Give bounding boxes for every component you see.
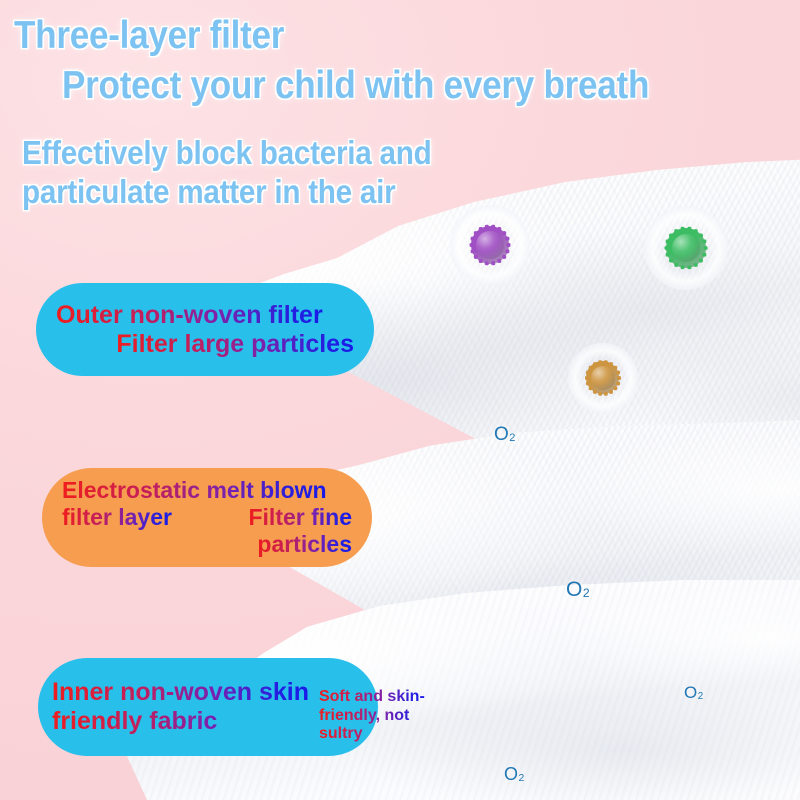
oxygen-marker-subscript: 2 xyxy=(519,773,525,784)
subheadline-line-2: particulate matter in the air xyxy=(22,174,722,211)
oxygen-marker-3: O2 xyxy=(684,683,703,703)
virus-spikes xyxy=(586,361,619,394)
callout-inner-title: Inner non-woven skin xyxy=(52,678,309,707)
oxygen-marker-label: O xyxy=(684,683,697,703)
oxygen-marker-4: O2 xyxy=(504,764,524,785)
callout-meltblown-title: Electrostatic melt blown xyxy=(62,477,327,504)
headline-line-1: Three-layer filter xyxy=(14,14,721,58)
callout-meltblown-desc-line-2: particles xyxy=(257,531,352,558)
poster-canvas: Three-layer filter Protect your child wi… xyxy=(0,0,800,800)
oxygen-marker-label: O xyxy=(494,424,509,446)
oxygen-marker-label: O xyxy=(566,578,582,602)
green-virus-halo xyxy=(644,206,728,290)
oxygen-marker-1: O2 xyxy=(494,424,515,446)
callout-inner-title-group: Inner non-woven skin friendly fabric xyxy=(52,678,309,736)
callout-meltblown-layer[interactable]: Electrostatic melt blown filter layer Fi… xyxy=(42,468,372,567)
callout-inner-desc-line-3: sultry xyxy=(319,725,425,744)
oxygen-marker-label: O xyxy=(504,764,518,785)
callout-meltblown-desc-line-1: Filter fine xyxy=(248,504,352,531)
headline-line-2: Protect your child with every breath xyxy=(62,64,726,108)
callout-inner-layer[interactable]: Inner non-woven skin friendly fabric Sof… xyxy=(38,658,378,756)
headline-block: Three-layer filter Protect your child wi… xyxy=(0,0,800,211)
virus-spikes xyxy=(666,228,706,268)
callout-meltblown-row: filter layer Filter fine particles xyxy=(56,504,358,557)
callout-inner-desc: Soft and skin- friendly, not sultry xyxy=(319,688,425,744)
purple-virus-icon xyxy=(471,226,509,264)
oxygen-marker-subscript: 2 xyxy=(509,432,515,444)
callout-inner-desc-line-2: friendly, not xyxy=(319,707,425,726)
callout-meltblown-desc: Filter fine particles xyxy=(248,504,352,557)
gold-virus-halo xyxy=(568,343,637,412)
callout-outer-desc: Filter large particles xyxy=(116,330,354,359)
callout-inner-desc-line-1: Soft and skin- xyxy=(319,688,425,707)
gold-virus-icon xyxy=(586,361,619,394)
green-virus-icon xyxy=(666,228,706,268)
callout-outer-layer[interactable]: Outer non-woven filter Filter large part… xyxy=(36,283,374,376)
callout-outer-title: Outer non-woven filter xyxy=(56,301,323,330)
subheadline-line-1: Effectively block bacteria and xyxy=(22,135,722,172)
oxygen-marker-subscript: 2 xyxy=(583,586,590,600)
purple-virus-halo xyxy=(450,205,530,285)
callout-inner-title-cont: friendly fabric xyxy=(52,707,309,736)
oxygen-marker-2: O2 xyxy=(566,578,590,602)
oxygen-marker-subscript: 2 xyxy=(698,691,703,702)
virus-spikes xyxy=(471,226,509,264)
callout-meltblown-title-cont: filter layer xyxy=(62,504,172,531)
